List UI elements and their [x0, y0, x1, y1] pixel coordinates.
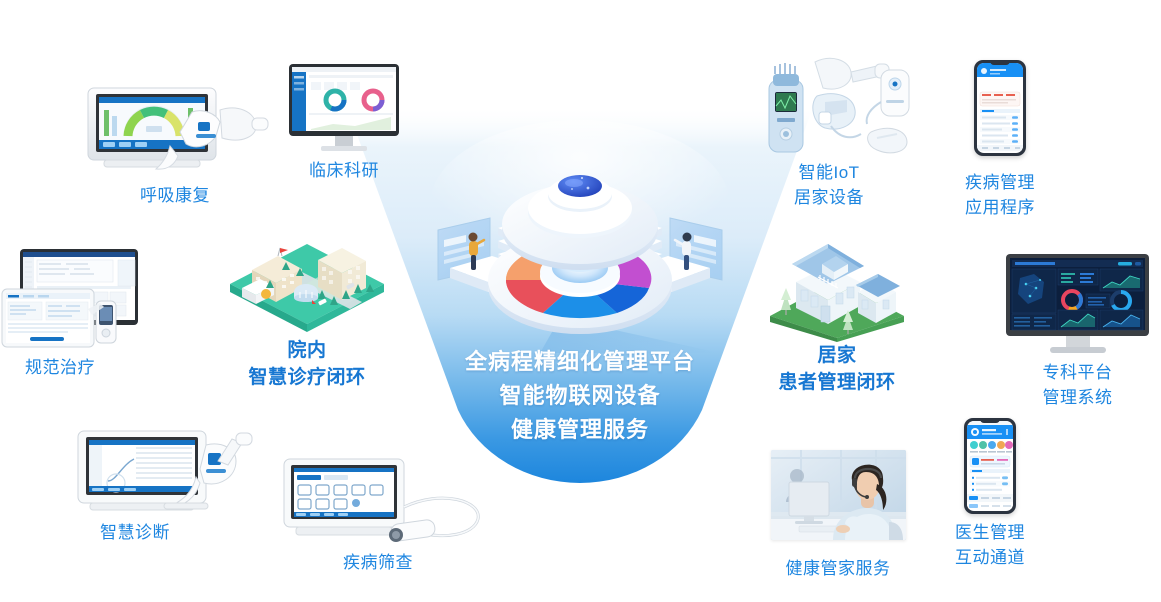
- isometric-house-icon: [752, 230, 922, 342]
- node-disease-screening[interactable]: 疾病筛查: [278, 455, 488, 575]
- node-in-hospital[interactable]: 院内 智慧诊疗闭环: [222, 222, 392, 391]
- label-doctor-mgmt: 医生管理 互动通道: [930, 520, 1050, 570]
- node-doctor-mgmt[interactable]: 医生管理 互动通道: [930, 418, 1050, 570]
- smartphone-doctor-app-icon: [930, 418, 1050, 520]
- iot-home-devices-icon: [755, 52, 925, 160]
- smartphone-app-icon: [940, 60, 1060, 170]
- call-center-agent-photo-icon: [748, 450, 928, 540]
- photo-frame: [771, 450, 906, 540]
- label-smart-iot-home: 智能IoT 居家设备: [769, 160, 889, 210]
- node-smart-diagnosis[interactable]: 智慧诊断: [60, 425, 275, 545]
- spirometer-tablet-device-icon: [70, 70, 280, 175]
- center-line-3: 健康管理服务: [415, 413, 745, 447]
- label-smart-diagnosis: 智慧诊断: [60, 520, 210, 545]
- center-line-2: 智能物联网设备: [415, 379, 745, 413]
- center-headline: 全病程精细化管理平台 智能物联网设备 健康管理服务: [415, 345, 745, 447]
- node-respiratory-rehab[interactable]: 呼吸康复: [70, 70, 280, 208]
- label-disease-screening: 疾病筛查: [308, 550, 448, 575]
- tablet-ultrasound-probe-icon: [278, 455, 488, 550]
- phone-notch: [990, 60, 1010, 65]
- label-respiratory-rehab: 呼吸康复: [70, 183, 280, 208]
- tablet-spirometer-icon: [60, 425, 275, 520]
- label-disease-mgmt-app: 疾病管理 应用程序: [940, 170, 1060, 220]
- label-specialty-platform: 专科平台 管理系统: [1000, 360, 1155, 410]
- desktop-monitor-dashboard-icon: [283, 62, 405, 158]
- node-smart-iot-home[interactable]: 智能IoT 居家设备: [755, 52, 925, 210]
- label-home-care: 居家 患者管理闭环: [752, 342, 922, 396]
- node-disease-mgmt-app[interactable]: 疾病管理 应用程序: [940, 60, 1060, 220]
- node-home-care[interactable]: 居家 患者管理闭环: [752, 230, 922, 396]
- node-standard-treatment[interactable]: 规范治疗: [0, 245, 175, 380]
- label-health-steward: 健康管家服务: [748, 556, 928, 581]
- isometric-hospital-campus-icon: [222, 222, 392, 337]
- label-in-hospital: 院内 智慧诊疗闭环: [222, 337, 392, 391]
- dark-dashboard-monitor-icon: [1000, 252, 1155, 360]
- infographic-canvas: 全病程精细化管理平台 智能物联网设备 健康管理服务: [0, 0, 1161, 602]
- phone-shell-doctor: [964, 418, 1016, 514]
- label-standard-treatment: 规范治疗: [0, 355, 120, 380]
- node-health-steward[interactable]: 健康管家服务: [748, 450, 928, 581]
- node-specialty-platform[interactable]: 专科平台 管理系统: [1000, 252, 1155, 410]
- node-clinical-research[interactable]: 临床科研: [283, 62, 405, 183]
- laptop-tablet-probe-icon: [0, 245, 175, 355]
- center-line-1: 全病程精细化管理平台: [415, 345, 745, 379]
- phone-notch-doctor: [980, 418, 1000, 423]
- phone-shell: [974, 60, 1026, 156]
- label-clinical-research: 临床科研: [283, 158, 405, 183]
- isometric-data-platform-illustration: [420, 168, 740, 353]
